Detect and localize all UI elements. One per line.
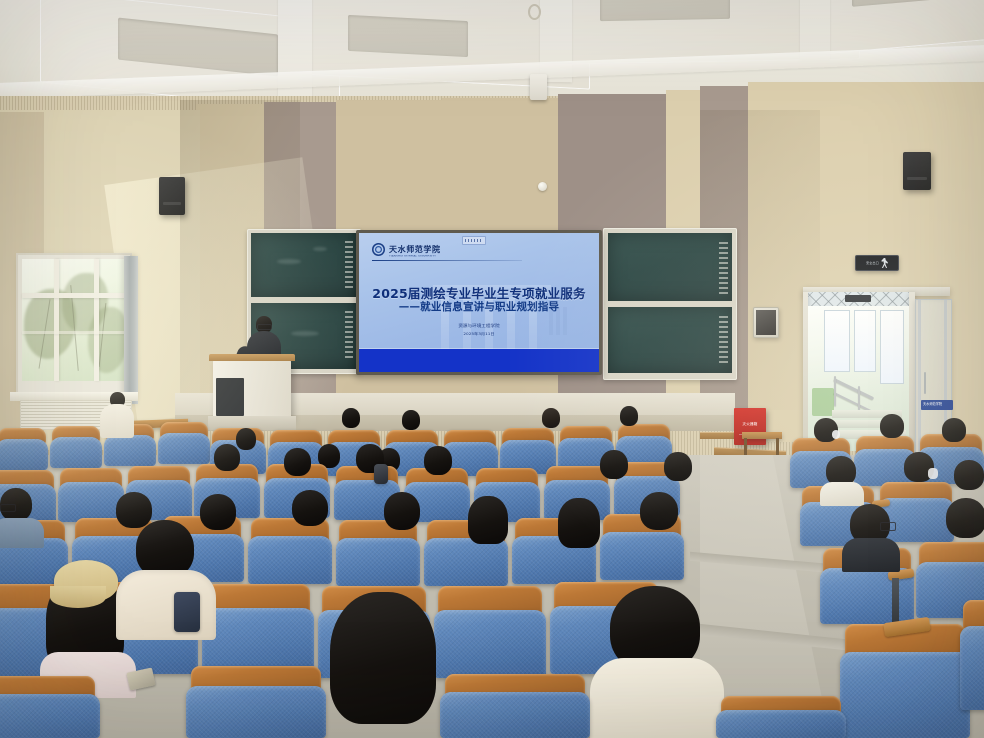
blackboard-right xyxy=(603,228,737,380)
emergency-exit-sign: 安全出口 xyxy=(855,255,899,271)
fire-cabinet-label: 灭火器箱 xyxy=(734,422,766,426)
person xyxy=(380,492,426,546)
door-handle[interactable] xyxy=(924,372,926,394)
university-logo-text: 天水师范学院 xyxy=(389,244,441,255)
seat[interactable] xyxy=(202,584,314,676)
person xyxy=(330,592,440,738)
backpack xyxy=(374,464,388,484)
person xyxy=(596,586,716,738)
transom-plate xyxy=(845,295,871,302)
input-source-tag xyxy=(462,236,486,245)
person xyxy=(466,496,512,550)
lectern-top-surface xyxy=(209,354,295,361)
window-mullion-v1 xyxy=(54,259,59,381)
seat[interactable] xyxy=(50,426,102,468)
person xyxy=(118,520,208,630)
smoke-detector-icon xyxy=(538,182,547,191)
slide-footer-org: 资源与环境工程学院 xyxy=(359,324,599,329)
person xyxy=(900,452,938,494)
person xyxy=(636,492,684,548)
blackboard-right-track-upper xyxy=(719,242,728,294)
blackboard-right-upper xyxy=(608,233,732,301)
backpack xyxy=(174,592,200,632)
wall-control-panel[interactable] xyxy=(753,307,779,338)
lecture-hall-photo: 安全出口 xyxy=(0,0,984,738)
person xyxy=(596,450,632,490)
seat[interactable] xyxy=(960,600,984,710)
glasses-icon xyxy=(0,504,16,512)
exit-sign-text: 安全出口 xyxy=(866,262,879,265)
person xyxy=(280,448,316,486)
cap-brim xyxy=(50,586,106,608)
glasses-icon xyxy=(880,522,896,531)
projection-screen[interactable]: 天水师范学院 TIANSHUI NORMAL UNIVERSITY 2025届测… xyxy=(359,233,599,372)
ceiling-light-panel-right xyxy=(600,0,730,21)
blackboard-right-lower xyxy=(608,307,732,373)
slide-accent-band xyxy=(359,349,599,372)
person xyxy=(876,414,908,448)
person xyxy=(538,408,564,436)
fire-extinguisher-cabinet[interactable]: 灭火器箱 xyxy=(734,408,766,445)
seat[interactable] xyxy=(716,696,846,738)
seat[interactable] xyxy=(0,676,100,738)
window-left-frame xyxy=(18,255,130,395)
person xyxy=(556,498,604,554)
window-mullion-h2 xyxy=(22,331,126,334)
lectern-equipment-panel xyxy=(216,378,244,416)
person xyxy=(822,456,860,498)
slide-subtitle: ——就业信息宣讲与职业规划指导 xyxy=(359,299,599,314)
seat[interactable] xyxy=(840,624,970,738)
seat[interactable] xyxy=(0,428,48,470)
person xyxy=(938,418,970,452)
blackboard-left-upper xyxy=(251,233,357,297)
window-curtain[interactable] xyxy=(124,256,138,404)
door-department-sign: 天水师范学院 xyxy=(921,400,953,410)
person xyxy=(660,452,696,492)
university-logo-subtext: TIANSHUI NORMAL UNIVERSITY xyxy=(389,255,436,258)
wall-speaker-left xyxy=(159,177,185,215)
seat[interactable] xyxy=(434,586,546,678)
stairwell-green-panel xyxy=(812,388,834,416)
wall-speaker-right xyxy=(903,152,931,190)
person xyxy=(944,498,984,554)
university-logo-icon xyxy=(372,243,385,256)
presenter-glasses-icon xyxy=(257,324,272,330)
person xyxy=(810,418,842,452)
person xyxy=(100,392,134,436)
blackboard-left-track-upper xyxy=(345,241,353,289)
face-mask xyxy=(928,468,938,479)
person xyxy=(616,406,642,434)
seat-support-post xyxy=(892,578,899,626)
window-mullion-v2 xyxy=(94,259,99,381)
person xyxy=(846,504,896,560)
seat[interactable] xyxy=(186,666,326,738)
person xyxy=(0,488,44,538)
person xyxy=(352,444,388,484)
door-sign-text: 天水师范学院 xyxy=(923,403,942,406)
running-man-icon xyxy=(881,258,888,268)
slide-header-rule xyxy=(372,260,522,261)
window-mullion-h1 xyxy=(22,293,126,298)
person xyxy=(398,410,424,438)
door-transom-grille xyxy=(807,292,914,306)
projection-screen-frame: 天水师范学院 TIANSHUI NORMAL UNIVERSITY 2025届测… xyxy=(356,230,602,375)
blackboard-left-track-lower xyxy=(345,311,353,361)
window-left-glass xyxy=(22,259,126,381)
projector-hook-icon xyxy=(528,4,541,20)
seat[interactable] xyxy=(158,422,210,464)
person xyxy=(952,460,984,502)
ceiling-projector-mount xyxy=(530,74,547,100)
person xyxy=(288,490,334,542)
slide-footer-date: 2025年3月11日 xyxy=(359,332,599,337)
ceiling-light-panel-center xyxy=(348,15,468,57)
seat[interactable] xyxy=(440,674,590,738)
wall-control-panel-screen xyxy=(756,310,776,335)
person xyxy=(420,446,456,486)
person xyxy=(210,444,244,480)
blackboard-right-track-lower xyxy=(719,316,728,366)
person xyxy=(338,408,364,436)
